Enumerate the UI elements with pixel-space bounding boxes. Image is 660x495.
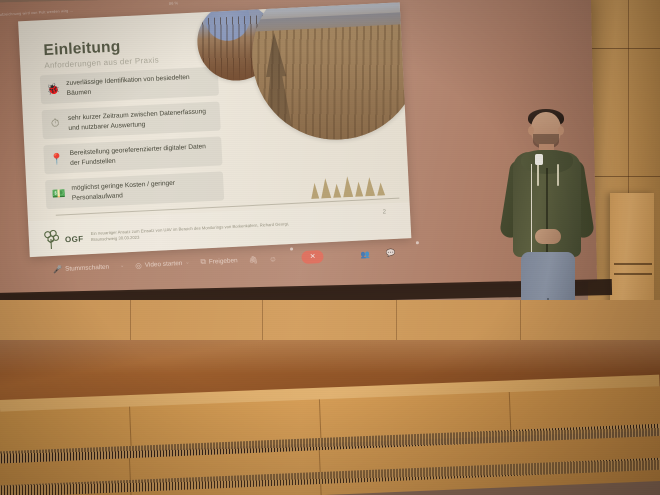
ogf-logo: OGF bbox=[43, 228, 84, 250]
share-button[interactable]: ⧉ Freigeben bbox=[200, 255, 238, 267]
beetle-icon: 🐞 bbox=[40, 82, 67, 96]
camera-icon: ◎ bbox=[135, 260, 142, 269]
mute-button[interactable]: 🎤 Stummschalten bbox=[53, 262, 110, 274]
forest-photo-large bbox=[248, 2, 411, 143]
map-pin-icon: 📍 bbox=[44, 152, 71, 166]
share-screen-icon: ⧉ bbox=[200, 257, 206, 267]
recording-notice: Aufzeichnung wird von Pult werden wirg .… bbox=[0, 8, 87, 17]
mic-icon: 🎤 bbox=[53, 264, 63, 273]
chevron-down-icon: ⌄ bbox=[120, 263, 124, 269]
list-item-label: sehr kurzer Zeitraum zwischen Datenerfas… bbox=[68, 106, 221, 133]
list-item: 🐞 zuverlässige Identifikation von besied… bbox=[40, 67, 219, 105]
requirements-list: 🐞 zuverlässige Identifikation von besied… bbox=[40, 67, 225, 216]
attachment-button[interactable]: 🖇 bbox=[248, 255, 258, 264]
list-item: 💵 möglichst geringe Kosten / geringer Pe… bbox=[45, 171, 224, 209]
screenshot-root: Aufzeichnung wird von Pult werden wirg .… bbox=[0, 0, 660, 495]
stopwatch-icon: ⏱ bbox=[42, 117, 69, 131]
list-item: 📍 Bereitstellung georeferenzierter digit… bbox=[43, 136, 222, 174]
top-status-text: 86 % bbox=[169, 0, 178, 5]
hands bbox=[535, 229, 561, 244]
reaction-icon: ☺ bbox=[269, 254, 277, 263]
tree-icon bbox=[43, 229, 63, 250]
chevron-down-icon: ⌄ bbox=[185, 260, 189, 266]
ogf-logo-text: OGF bbox=[65, 234, 84, 244]
start-video-button-label: Video starten bbox=[145, 259, 183, 268]
mute-button-label: Stummschalten bbox=[65, 263, 109, 272]
attachment-icon: 🖇 bbox=[248, 255, 258, 264]
list-item-label: möglichst geringe Kosten / geringer Pers… bbox=[71, 176, 224, 203]
treeline-graphic bbox=[304, 173, 391, 199]
leave-call-button[interactable]: ✕ bbox=[301, 249, 324, 263]
reaction-button[interactable]: ☺ bbox=[269, 254, 277, 263]
list-item-label: zuverlässige Identifikation von besiedel… bbox=[66, 72, 219, 99]
share-button-label: Freigeben bbox=[209, 257, 238, 265]
money-icon: 💵 bbox=[45, 187, 72, 201]
lapel-microphone bbox=[535, 154, 543, 165]
presentation-slide: Einleitung Anforderungen aus der Praxis … bbox=[18, 2, 411, 257]
list-item: ⏱ sehr kurzer Zeitraum zwischen Datenerf… bbox=[42, 101, 221, 139]
mic-options-button[interactable]: ⌄ bbox=[120, 263, 124, 269]
chat-icon[interactable]: 💬 bbox=[386, 248, 396, 257]
list-item-label: Bereitstellung georeferenzierter digital… bbox=[69, 141, 222, 168]
people-icon[interactable]: 👥 bbox=[360, 249, 370, 258]
start-video-button[interactable]: ◎ Video starten ⌄ bbox=[135, 258, 190, 270]
floor-reflection bbox=[0, 340, 660, 374]
